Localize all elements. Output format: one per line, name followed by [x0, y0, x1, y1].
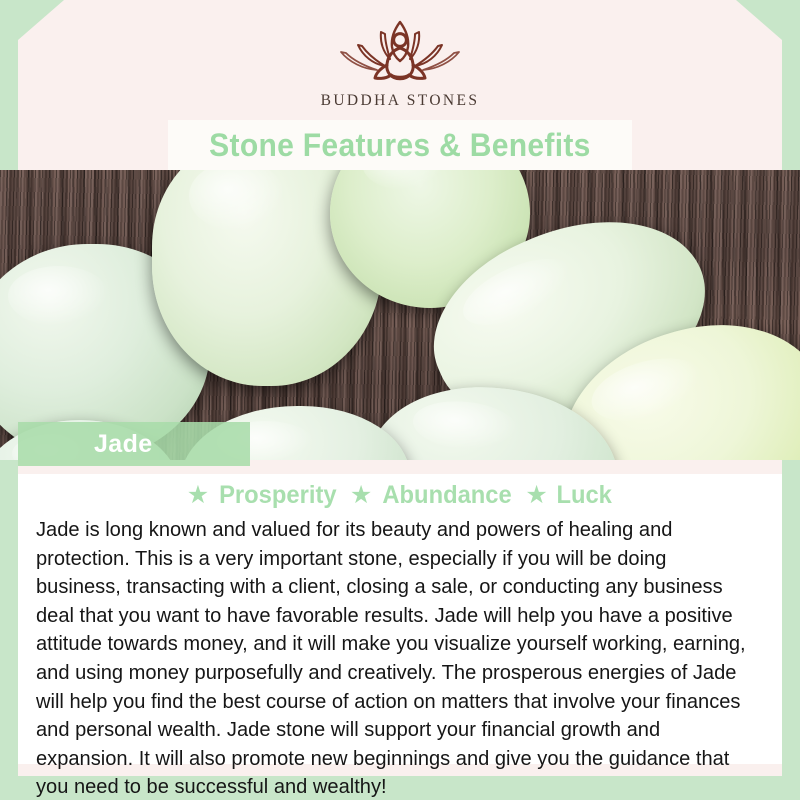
- star-icon: ★: [525, 483, 547, 508]
- corner-wedge-bottom-right: [760, 770, 800, 800]
- title-banner: Stone Features & Benefits: [168, 120, 632, 170]
- stone-name: Jade: [94, 430, 153, 459]
- stone-photo: [0, 170, 800, 460]
- page-title: Stone Features & Benefits: [209, 127, 590, 164]
- brand-name: BUDDHA STONES: [321, 92, 480, 110]
- benefit-item: ★ Prosperity: [187, 481, 340, 510]
- benefit-item: ★ Abundance: [350, 481, 516, 510]
- stone-info-card: BUDDHA STONES Stone Features & Benefits …: [0, 0, 800, 800]
- content-panel: ★ Prosperity ★ Abundance ★ Luck Jade is …: [18, 460, 782, 776]
- lotus-meditation-icon: [325, 18, 475, 86]
- brand-logo: BUDDHA STONES: [18, 18, 782, 110]
- star-icon: ★: [187, 483, 209, 508]
- benefit-label: Prosperity: [219, 481, 336, 510]
- benefits-row: ★ Prosperity ★ Abundance ★ Luck: [18, 478, 782, 512]
- stone-description: Jade is long known and valued for its be…: [36, 516, 755, 800]
- content-inner: ★ Prosperity ★ Abundance ★ Luck Jade is …: [18, 474, 782, 764]
- benefit-item: ★ Luck: [525, 481, 613, 510]
- corner-wedge-bottom-left: [0, 770, 40, 800]
- stone-name-band: Jade: [18, 422, 250, 466]
- star-icon: ★: [350, 483, 372, 508]
- benefit-label: Abundance: [383, 481, 512, 510]
- benefit-label: Luck: [556, 481, 611, 510]
